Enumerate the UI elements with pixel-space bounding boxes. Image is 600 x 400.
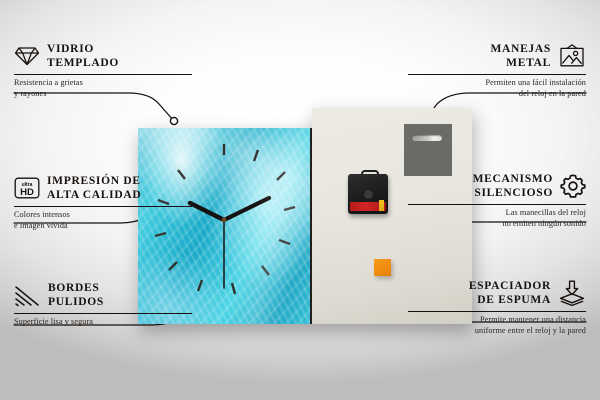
divider	[14, 74, 192, 75]
gear-icon	[560, 173, 586, 199]
hanger-slot	[412, 135, 442, 141]
product-feature-infographic: VIDRIO TEMPLADO Resistencia a grietas y …	[0, 0, 600, 400]
feature-title: VIDRIO TEMPLADO	[47, 42, 119, 71]
feature-vidrio-templado: VIDRIO TEMPLADO Resistencia a grietas y …	[14, 42, 192, 100]
divider	[14, 206, 192, 207]
foam-spacer-icon	[558, 280, 586, 306]
feature-description: Superficie lisa y segura	[14, 316, 192, 327]
polished-edges-icon	[14, 284, 41, 307]
feature-title: IMPRESIÓN DE ALTA CALIDAD	[47, 174, 141, 203]
feature-title: BORDES PULIDOS	[48, 281, 104, 310]
quartz-mechanism-box	[348, 170, 388, 214]
picture-hanger-icon	[558, 44, 586, 68]
divider	[14, 313, 192, 314]
feature-manejas-metal: MANEJAS METAL Permiten una fácil instala…	[408, 42, 586, 100]
clock-center-cap	[222, 218, 227, 223]
foam-spacer-pad	[374, 259, 391, 276]
feature-bordes-pulidos: BORDES PULIDOS Superficie lisa y segura	[14, 281, 192, 327]
divider	[408, 204, 586, 205]
feature-impresion-alta-calidad: ultra HD IMPRESIÓN DE ALTA CALIDAD Color…	[14, 174, 192, 232]
divider	[408, 74, 586, 75]
metal-hanger-plate	[404, 124, 452, 176]
feature-mecanismo-silencioso: MECANISMO SILENCIOSO Las manecillas del …	[408, 172, 586, 230]
divider	[408, 311, 586, 312]
diamond-icon	[14, 45, 40, 67]
ultra-hd-icon-large-text: HD	[20, 187, 34, 198]
mechanism-shaft	[364, 190, 373, 199]
feature-espaciador-espuma: ESPACIADOR DE ESPUMA Permite mantener un…	[408, 279, 586, 337]
feature-description: Permiten una fácil instalación del reloj…	[408, 77, 586, 100]
feature-description: Resistencia a grietas y rayones	[14, 77, 192, 100]
minute-hand	[224, 198, 269, 220]
mechanism-body	[348, 174, 388, 214]
hour-hand	[190, 203, 224, 220]
mechanism-label	[350, 202, 386, 211]
ultra-hd-icon: ultra HD	[14, 176, 40, 200]
feature-title: MANEJAS METAL	[491, 42, 552, 71]
feature-title: ESPACIADOR DE ESPUMA	[469, 279, 551, 308]
feature-description: Colores intensos e imagen vívida	[14, 209, 192, 232]
feature-description: Las manecillas del reloj no emiten ningú…	[408, 207, 586, 230]
feature-description: Permite mantener una distancia uniforme …	[408, 314, 586, 337]
feature-title: MECANISMO SILENCIOSO	[473, 172, 553, 201]
